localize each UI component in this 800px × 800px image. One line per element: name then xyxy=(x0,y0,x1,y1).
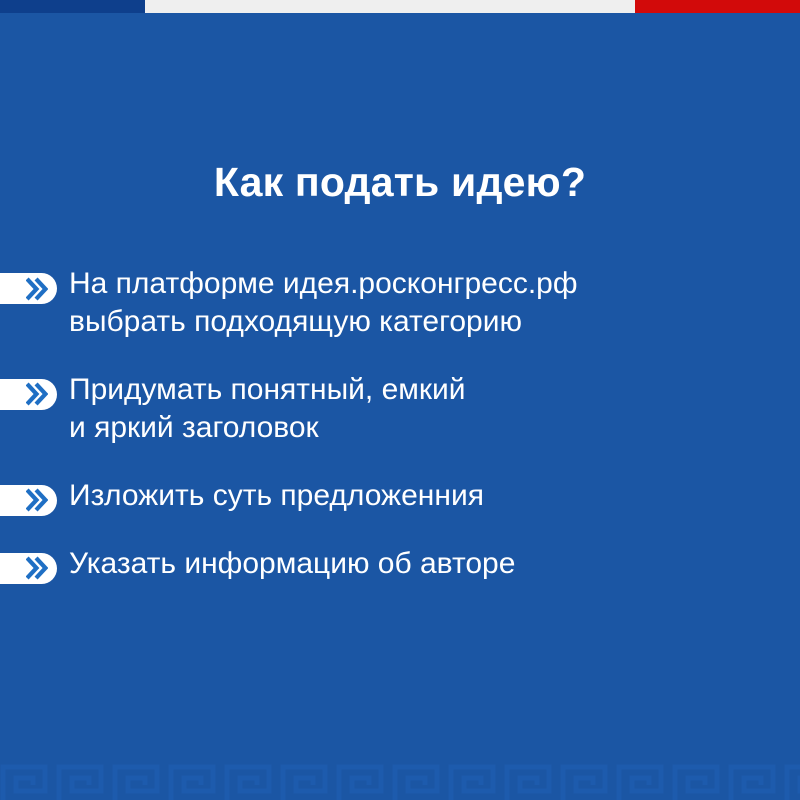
list-item: Изложить суть предложенния xyxy=(0,474,800,516)
list-item-label: Изложить суть предложенния xyxy=(57,474,800,515)
chevron-right-icon xyxy=(0,485,57,516)
greek-key-pattern xyxy=(0,758,800,800)
list-item: Придумать понятный, емкий и яркий заголо… xyxy=(0,368,800,448)
list-item-label: На платформе идея.росконгресс.рф выбрать… xyxy=(57,262,800,342)
tricolor-segment-white xyxy=(145,0,635,13)
list-item: Указать информацию об авторе xyxy=(0,542,800,584)
slide-root: Как подать идею? На платформе идея.роско… xyxy=(0,0,800,800)
tricolor-segment-blue xyxy=(0,0,145,13)
tricolor-segment-red xyxy=(635,0,800,13)
tricolor-bar xyxy=(0,0,800,13)
list-item: На платформе идея.росконгресс.рф выбрать… xyxy=(0,262,800,342)
list-item-label: Указать информацию об авторе xyxy=(57,542,800,583)
chevron-right-icon xyxy=(0,379,57,410)
list-item-label: Придумать понятный, емкий и яркий заголо… xyxy=(57,368,800,448)
chevron-right-icon xyxy=(0,553,57,584)
page-title: Как подать идею? xyxy=(0,160,800,205)
bullet-list: На платформе идея.росконгресс.рф выбрать… xyxy=(0,262,800,610)
chevron-right-icon xyxy=(0,273,57,304)
